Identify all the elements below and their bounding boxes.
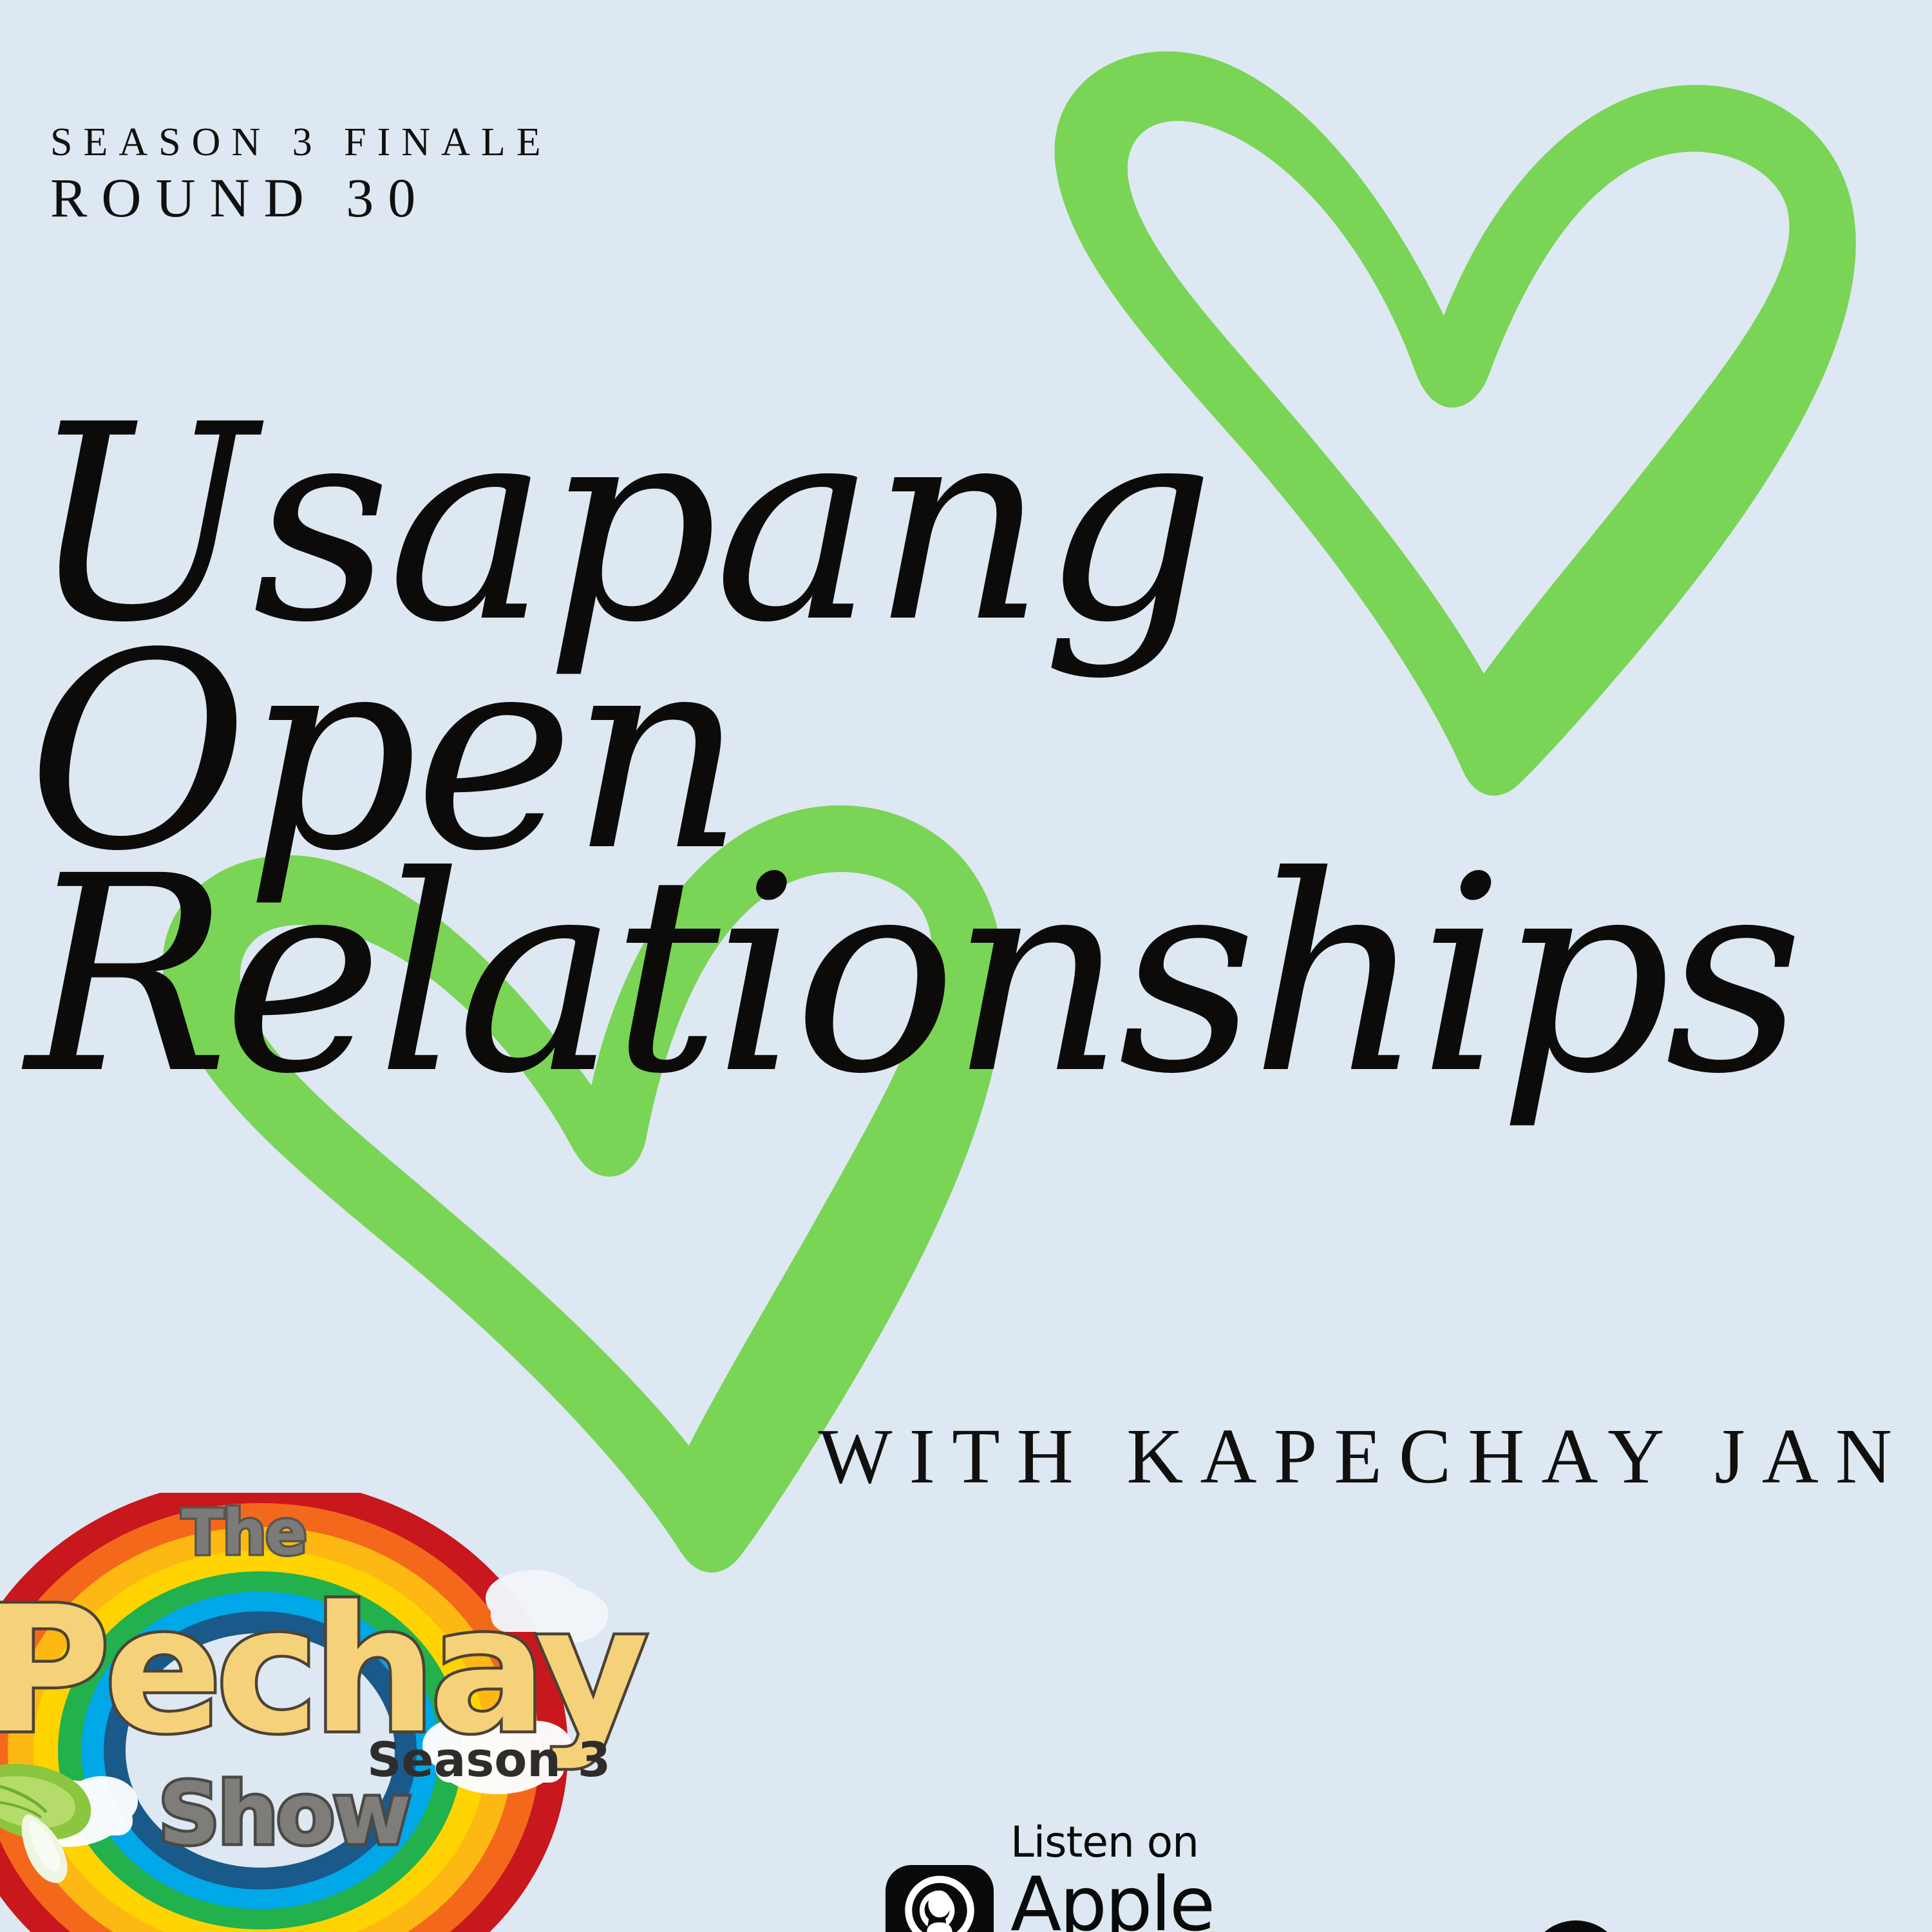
host-credit: WITH KAPECHAY JAN xyxy=(818,1412,1909,1502)
title-line-3: Relationships xyxy=(26,851,1919,1103)
apple-podcasts-badge[interactable]: Listen on Apple Podcasts xyxy=(885,1821,1492,1932)
season-finale-label: SEASON 3 FINALE xyxy=(50,122,552,162)
pechay-show-logo[interactable]: The Pechay Show Season 3 xyxy=(0,1493,639,1932)
platform-badges: Listen on Apple Podcasts Spotify xyxy=(885,1821,1932,1932)
episode-meta: SEASON 3 FINALE ROUND 30 xyxy=(50,122,552,230)
apple-podcasts-label: Apple Podcasts xyxy=(1010,1868,1492,1932)
logo-the-label: The xyxy=(182,1497,306,1569)
listen-on-label: Listen on xyxy=(1010,1821,1492,1864)
round-number-label: ROUND 30 xyxy=(50,166,552,230)
page-title: Usapang Open Relationships xyxy=(26,399,1919,1103)
spotify-label: Spotify xyxy=(1633,1929,1932,1932)
podcast-cover-art: SEASON 3 FINALE ROUND 30 Usapang Open Re… xyxy=(0,0,1932,1932)
spotify-badge[interactable]: Spotify xyxy=(1528,1920,1932,1932)
logo-season-label: Season 3 xyxy=(367,1732,611,1788)
apple-podcasts-icon xyxy=(885,1865,994,1932)
spotify-icon xyxy=(1528,1920,1624,1932)
